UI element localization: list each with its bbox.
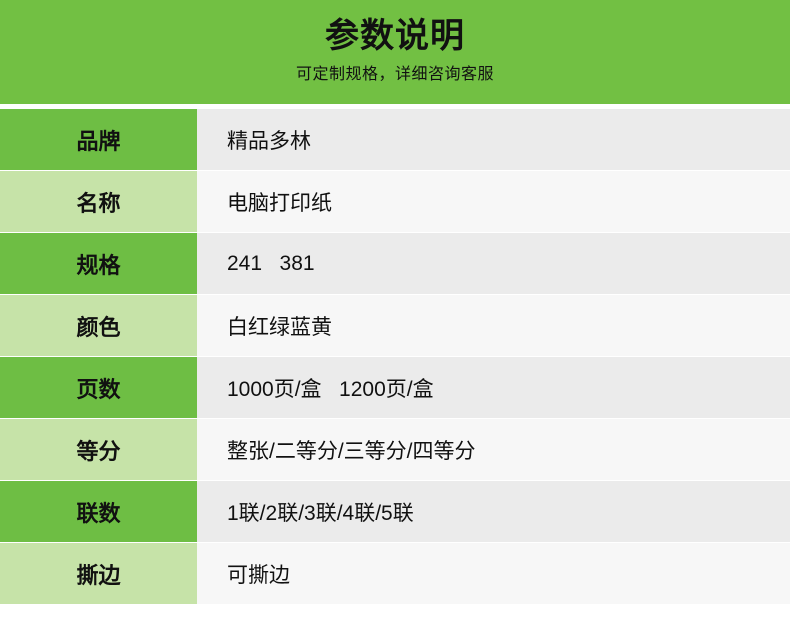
table-row: 页数 1000页/盒 1200页/盒 <box>0 357 790 418</box>
spec-label-tear-edge: 撕边 <box>0 543 197 604</box>
table-row: 等分 整张/二等分/三等分/四等分 <box>0 419 790 480</box>
spec-value-brand: 精品多林 <box>197 109 790 170</box>
spec-value-pages: 1000页/盒 1200页/盒 <box>197 357 790 418</box>
spec-value-tear-edge: 可撕边 <box>197 543 790 604</box>
spec-label-name: 名称 <box>0 171 197 232</box>
table-row: 撕边 可撕边 <box>0 543 790 604</box>
product-spec-page: 参数说明 可定制规格，详细咨询客服 品牌 精品多林 名称 电脑打印纸 规格 24… <box>0 0 790 621</box>
page-header-banner: 参数说明 可定制规格，详细咨询客服 <box>0 0 790 104</box>
spec-table: 品牌 精品多林 名称 电脑打印纸 规格 241 381 颜色 白红绿蓝黄 页数 … <box>0 104 790 604</box>
spec-value-size: 241 381 <box>197 233 790 294</box>
table-row: 联数 1联/2联/3联/4联/5联 <box>0 481 790 542</box>
spec-label-color: 颜色 <box>0 295 197 356</box>
spec-label-brand: 品牌 <box>0 109 197 170</box>
page-subtitle: 可定制规格，详细咨询客服 <box>296 64 494 86</box>
table-row: 品牌 精品多林 <box>0 109 790 170</box>
spec-value-color: 白红绿蓝黄 <box>197 295 790 356</box>
table-row: 名称 电脑打印纸 <box>0 171 790 232</box>
table-row: 规格 241 381 <box>0 233 790 294</box>
spec-label-divisions: 等分 <box>0 419 197 480</box>
page-title: 参数说明 <box>325 14 465 58</box>
spec-value-name: 电脑打印纸 <box>197 171 790 232</box>
page-bottom-spacer <box>0 604 790 629</box>
table-row: 颜色 白红绿蓝黄 <box>0 295 790 356</box>
spec-label-size: 规格 <box>0 233 197 294</box>
spec-label-pages: 页数 <box>0 357 197 418</box>
spec-label-plies: 联数 <box>0 481 197 542</box>
spec-value-plies: 1联/2联/3联/4联/5联 <box>197 481 790 542</box>
spec-value-divisions: 整张/二等分/三等分/四等分 <box>197 419 790 480</box>
